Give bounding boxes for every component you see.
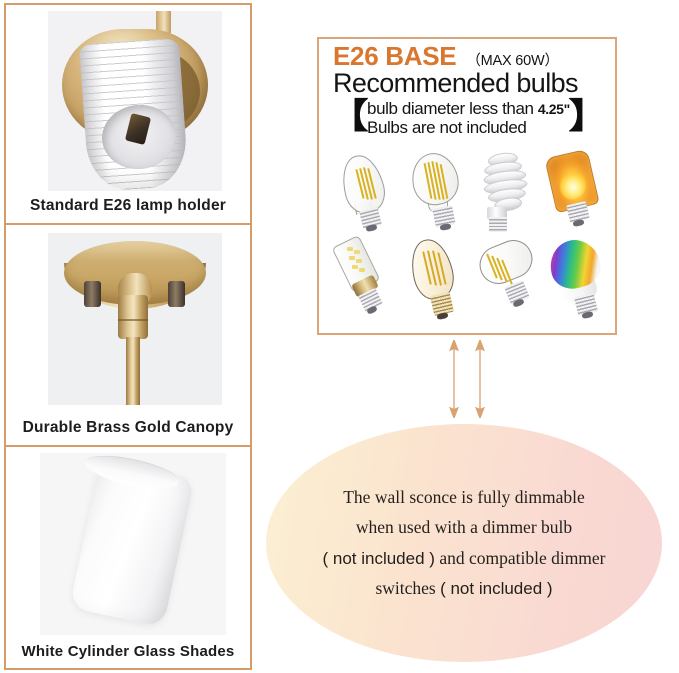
arrow-head-down-right — [476, 408, 484, 418]
arrows-svg — [440, 340, 500, 418]
led-chip-shape — [354, 250, 360, 254]
note-text: The wall sconce is fully dimmable — [343, 487, 585, 507]
e26-base-label: E26 BASE — [333, 43, 456, 70]
dimmable-note-line-2: when used with a dimmer bulb — [356, 519, 572, 537]
rgb-color-changing-bulb — [540, 237, 611, 323]
canopy-collar-seam-shape — [118, 319, 148, 321]
arrow-head-up-left — [450, 340, 458, 350]
bulb-diameter-value: 4.25" — [538, 101, 570, 117]
canopy-screw-left-shape — [84, 281, 101, 307]
feature-caption: Durable Brass Gold Canopy — [6, 419, 250, 437]
not-included-text: ( not included ) — [322, 549, 434, 568]
double-headed-vertical-arrows — [440, 340, 500, 418]
bulb-base-tip-shape — [581, 311, 593, 319]
dimmable-note-ellipse: The wall sconce is fully dimmable when u… — [266, 424, 662, 662]
bulb-note-text-block: bulb diameter less than 4.25" Bulbs are … — [367, 100, 570, 137]
white-cylinder-glass-shade-photo — [40, 453, 226, 635]
st64-edison-filament-bulb — [327, 149, 398, 235]
feature-panel-canopy: Durable Brass Gold Canopy — [6, 223, 250, 445]
vintage-amber-st64-bulb — [398, 237, 469, 323]
recommended-bulbs-panel: E26 BASE （MAX 60W） Recommended bulbs 【 b… — [317, 37, 617, 335]
not-included-text: ( not included ) — [440, 579, 552, 598]
bulb-panel-heading-row: E26 BASE （MAX 60W） — [329, 43, 605, 70]
max-wattage-label: （MAX 60W） — [466, 49, 558, 70]
bulb-base-tip-shape — [440, 223, 452, 231]
bulbs-not-included-note: Bulbs are not included — [367, 118, 570, 137]
dimmable-note-line-3: ( not included ) and compatible dimmer — [322, 550, 605, 568]
bulb-base-tip-shape — [572, 219, 584, 227]
feature-caption: White Cylinder Glass Shades — [6, 643, 250, 660]
e26-lamp-holder-photo — [48, 11, 222, 191]
arrow-head-up-right — [476, 340, 484, 350]
led-chip-shape — [347, 247, 353, 251]
canopy-collar-shape — [118, 295, 148, 339]
bracket-right-glyph: 】 — [568, 100, 608, 137]
brass-gold-canopy-photo — [48, 233, 222, 405]
bulb-note-bracket-row: 【 bulb diameter less than 4.25" Bulbs ar… — [329, 100, 605, 137]
feature-caption: Standard E26 lamp holder — [6, 197, 250, 215]
led-corn-tube-bulb — [327, 237, 398, 323]
note-text: and compatible dimmer — [435, 548, 606, 568]
feature-panel-lamp-holder: Standard E26 lamp holder — [6, 5, 250, 223]
bulb-diameter-note-prefix: bulb diameter less than — [367, 99, 538, 118]
led-chip-shape — [359, 268, 365, 272]
left-feature-column: Standard E26 lamp holder Durable Brass G… — [4, 3, 252, 670]
note-text: switches — [375, 578, 440, 598]
bulb-base-tip-shape — [365, 224, 377, 232]
led-chip-shape — [349, 256, 355, 260]
led-chip-shape — [356, 259, 362, 263]
bulb-diameter-note: bulb diameter less than 4.25" — [367, 100, 570, 118]
led-chip-shape — [352, 265, 358, 269]
flame-effect-bulb — [540, 149, 611, 235]
bulb-base-tip-shape — [436, 312, 448, 320]
a19-filament-bulb — [398, 149, 469, 235]
dimmable-note-line-4: switches ( not included ) — [375, 580, 552, 598]
infographic-root: Standard E26 lamp holder Durable Brass G… — [0, 0, 679, 673]
arrow-head-down-left — [450, 408, 458, 418]
t45-tubular-filament-bulb — [469, 237, 540, 323]
feature-panel-glass-shade: White Cylinder Glass Shades — [6, 445, 250, 668]
bulb-type-grid — [327, 149, 611, 323]
bracket-left-glyph: 【 — [328, 100, 368, 137]
recommended-bulbs-title: Recommended bulbs — [329, 69, 605, 97]
dimmable-note-line-1: The wall sconce is fully dimmable — [343, 489, 585, 507]
canopy-screw-right-shape — [168, 281, 185, 307]
bulb-base-screw-shape — [489, 217, 507, 232]
canopy-rod-shape — [126, 337, 140, 405]
note-text: when used with a dimmer bulb — [356, 517, 572, 537]
cfl-spiral-bulb — [469, 149, 540, 235]
